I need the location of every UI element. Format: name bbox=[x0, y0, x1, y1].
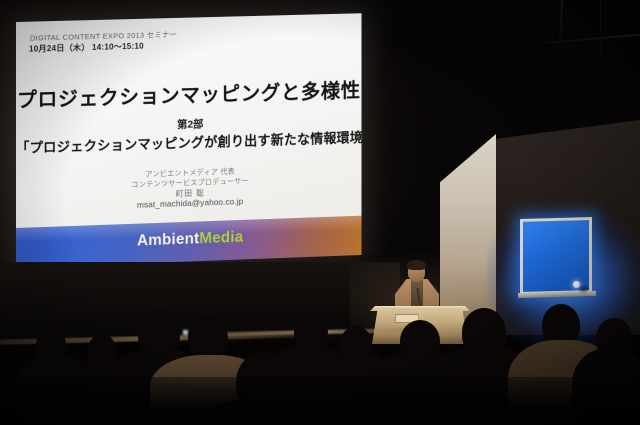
logo-text-media: Media bbox=[199, 229, 243, 247]
audience-head bbox=[188, 316, 228, 360]
slide-surface: DIGITAL CONTENT EXPO 2013 セミナー 10月24日（木）… bbox=[16, 13, 362, 268]
ceiling-seam-vertical-2 bbox=[600, 0, 601, 70]
panel-white-dot bbox=[573, 281, 580, 288]
audience-silhouettes bbox=[0, 300, 640, 425]
blue-illuminated-panel bbox=[520, 217, 592, 295]
panel-dot-shadow bbox=[579, 286, 588, 292]
conference-photo-scene: DIGITAL CONTENT EXPO 2013 セミナー 10月24日（木）… bbox=[0, 0, 640, 425]
logo-text-ambient: Ambient bbox=[137, 230, 199, 249]
speaker-hair bbox=[407, 260, 426, 270]
ambient-media-logo: AmbientMedia bbox=[16, 224, 362, 255]
foreground-darkness bbox=[0, 377, 640, 425]
projection-screen: DIGITAL CONTENT EXPO 2013 セミナー 10月24日（木）… bbox=[16, 13, 362, 268]
slide-main-title: プロジェクションマッピングと多様性 bbox=[16, 74, 362, 113]
slide-header-datetime: 10月24日（木） 14:10～15:10 bbox=[29, 40, 144, 55]
